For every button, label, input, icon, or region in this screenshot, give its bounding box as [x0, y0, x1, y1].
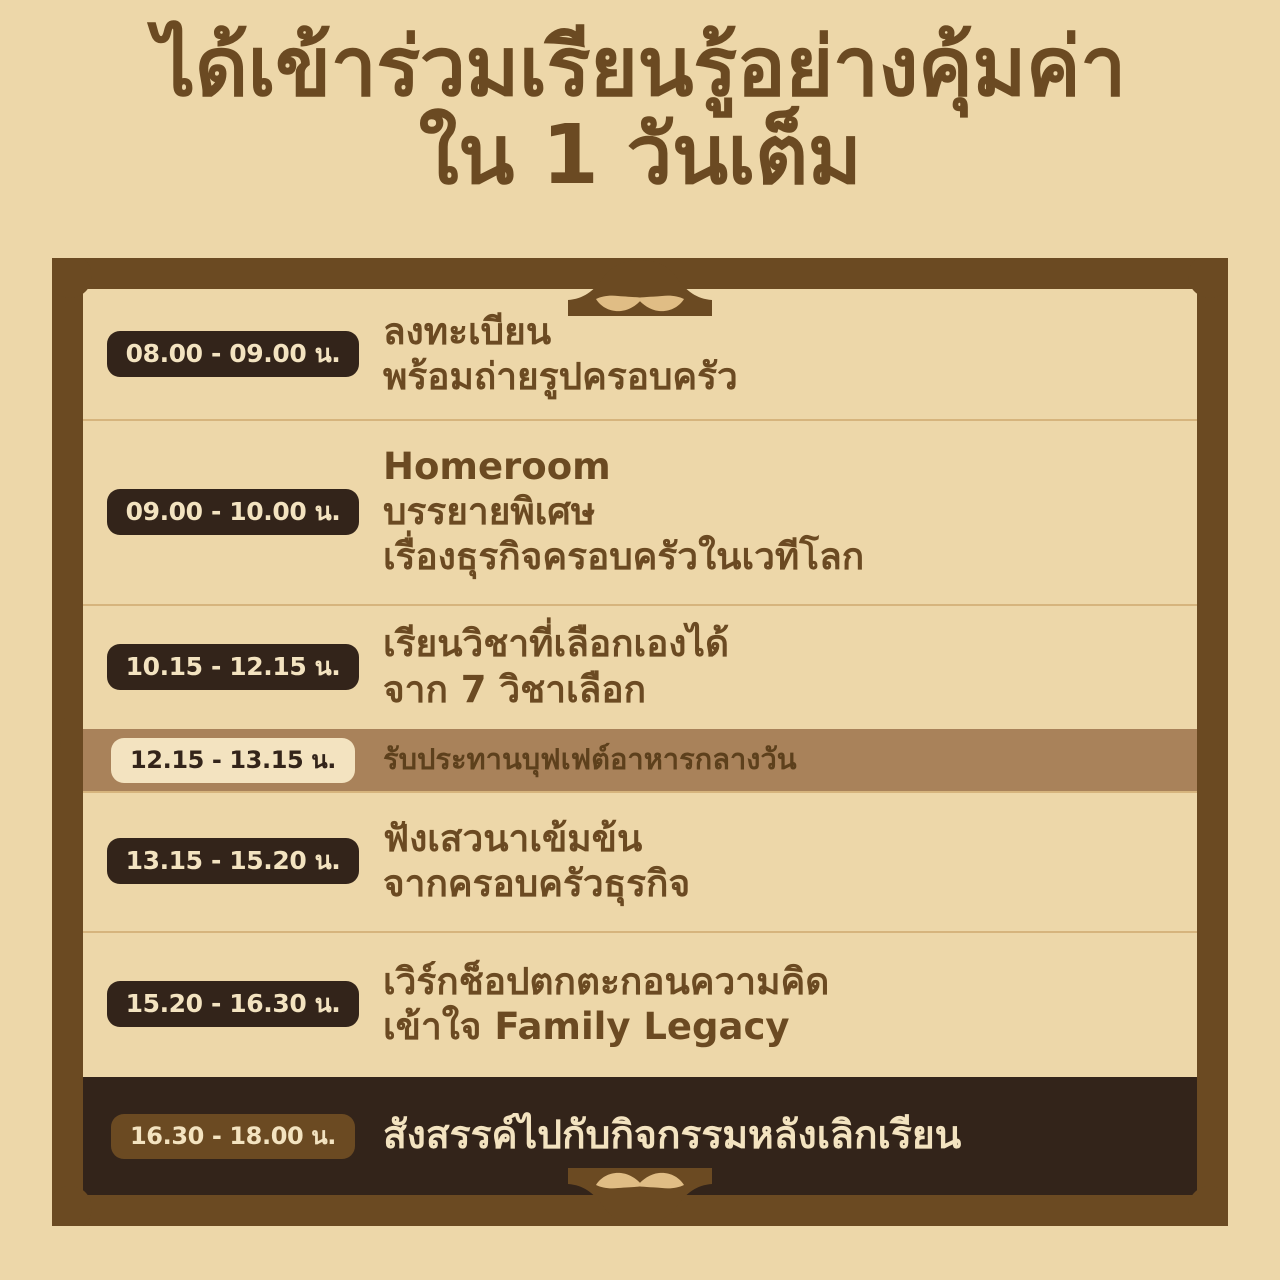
- schedule-description: รับประทานบุฟเฟต์อาหารกลางวัน: [383, 742, 1197, 777]
- schedule-row: 16.30 - 18.00 น.สังสรรค์ไปกับกิจกรรมหลัง…: [83, 1077, 1197, 1195]
- time-badge: 15.20 - 16.30 น.: [107, 981, 360, 1027]
- schedule-description-line: เรียนวิชาที่เลือกเองได้: [383, 621, 1177, 666]
- schedule-description-line: ฟังเสวนาเข้มข้น: [383, 816, 1177, 861]
- schedule-row: 12.15 - 13.15 น.รับประทานบุฟเฟต์อาหารกลา…: [83, 729, 1197, 791]
- schedule-time-cell: 09.00 - 10.00 น.: [83, 489, 383, 535]
- schedule-description: Homeroomบรรยายพิเศษเรื่องธุรกิจครอบครัวใ…: [383, 444, 1197, 579]
- schedule-description-line: เวิร์กช็อปตกตะกอนความคิด: [383, 959, 1177, 1004]
- schedule-frame: 08.00 - 09.00 น.ลงทะเบียนพร้อมถ่ายรูปครอ…: [52, 258, 1228, 1226]
- schedule-time-cell: 15.20 - 16.30 น.: [83, 981, 383, 1027]
- schedule-description-line: จากครอบครัวธุรกิจ: [383, 861, 1177, 906]
- schedule-description-line: เข้าใจ Family Legacy: [383, 1004, 1177, 1049]
- page-title-line-2: ใน 1 วันเต็ม: [0, 114, 1280, 198]
- time-badge: 08.00 - 09.00 น.: [107, 331, 360, 377]
- schedule-description: ลงทะเบียนพร้อมถ่ายรูปครอบครัว: [383, 309, 1197, 399]
- schedule-row: 09.00 - 10.00 น.Homeroomบรรยายพิเศษเรื่อ…: [83, 419, 1197, 604]
- schedule-time-cell: 10.15 - 12.15 น.: [83, 644, 383, 690]
- page-title: ได้เข้าร่วมเรียนรู้อย่างคุ้มค่า ใน 1 วัน…: [0, 26, 1280, 197]
- schedule-time-cell: 08.00 - 09.00 น.: [83, 331, 383, 377]
- schedule-description-line: เรื่องธุรกิจครอบครัวในเวทีโลก: [383, 534, 1177, 579]
- schedule-description: สังสรรค์ไปกับกิจกรรมหลังเลิกเรียน: [383, 1112, 1197, 1160]
- time-badge: 12.15 - 13.15 น.: [111, 738, 355, 783]
- page-title-line-1: ได้เข้าร่วมเรียนรู้อย่างคุ้มค่า: [0, 26, 1280, 110]
- schedule-description-line: บรรยายพิเศษ: [383, 489, 1177, 534]
- schedule-row: 08.00 - 09.00 น.ลงทะเบียนพร้อมถ่ายรูปครอ…: [83, 289, 1197, 419]
- schedule-description-line: Homeroom: [383, 444, 1177, 489]
- schedule-time-cell: 16.30 - 18.00 น.: [83, 1114, 383, 1159]
- schedule-row: 10.15 - 12.15 น.เรียนวิชาที่เลือกเองได้จ…: [83, 604, 1197, 729]
- schedule-description: ฟังเสวนาเข้มข้นจากครอบครัวธุรกิจ: [383, 816, 1197, 906]
- schedule-description: เรียนวิชาที่เลือกเองได้จาก 7 วิชาเลือก: [383, 621, 1197, 711]
- time-badge: 09.00 - 10.00 น.: [107, 489, 360, 535]
- schedule-description-line: รับประทานบุฟเฟต์อาหารกลางวัน: [383, 742, 1177, 777]
- schedule-description-line: จาก 7 วิชาเลือก: [383, 667, 1177, 712]
- time-badge: 10.15 - 12.15 น.: [107, 644, 360, 690]
- schedule-description-line: พร้อมถ่ายรูปครอบครัว: [383, 354, 1177, 399]
- schedule-list: 08.00 - 09.00 น.ลงทะเบียนพร้อมถ่ายรูปครอ…: [83, 289, 1197, 1195]
- schedule-row: 15.20 - 16.30 น.เวิร์กช็อปตกตะกอนความคิด…: [83, 931, 1197, 1077]
- schedule-description-line: สังสรรค์ไปกับกิจกรรมหลังเลิกเรียน: [383, 1112, 1177, 1160]
- schedule-row: 13.15 - 15.20 น.ฟังเสวนาเข้มข้นจากครอบคร…: [83, 791, 1197, 931]
- time-badge: 16.30 - 18.00 น.: [111, 1114, 355, 1159]
- time-badge: 13.15 - 15.20 น.: [107, 838, 360, 884]
- schedule-description-line: ลงทะเบียน: [383, 309, 1177, 354]
- schedule-time-cell: 13.15 - 15.20 น.: [83, 838, 383, 884]
- schedule-description: เวิร์กช็อปตกตะกอนความคิดเข้าใจ Family Le…: [383, 959, 1197, 1049]
- schedule-time-cell: 12.15 - 13.15 น.: [83, 738, 383, 783]
